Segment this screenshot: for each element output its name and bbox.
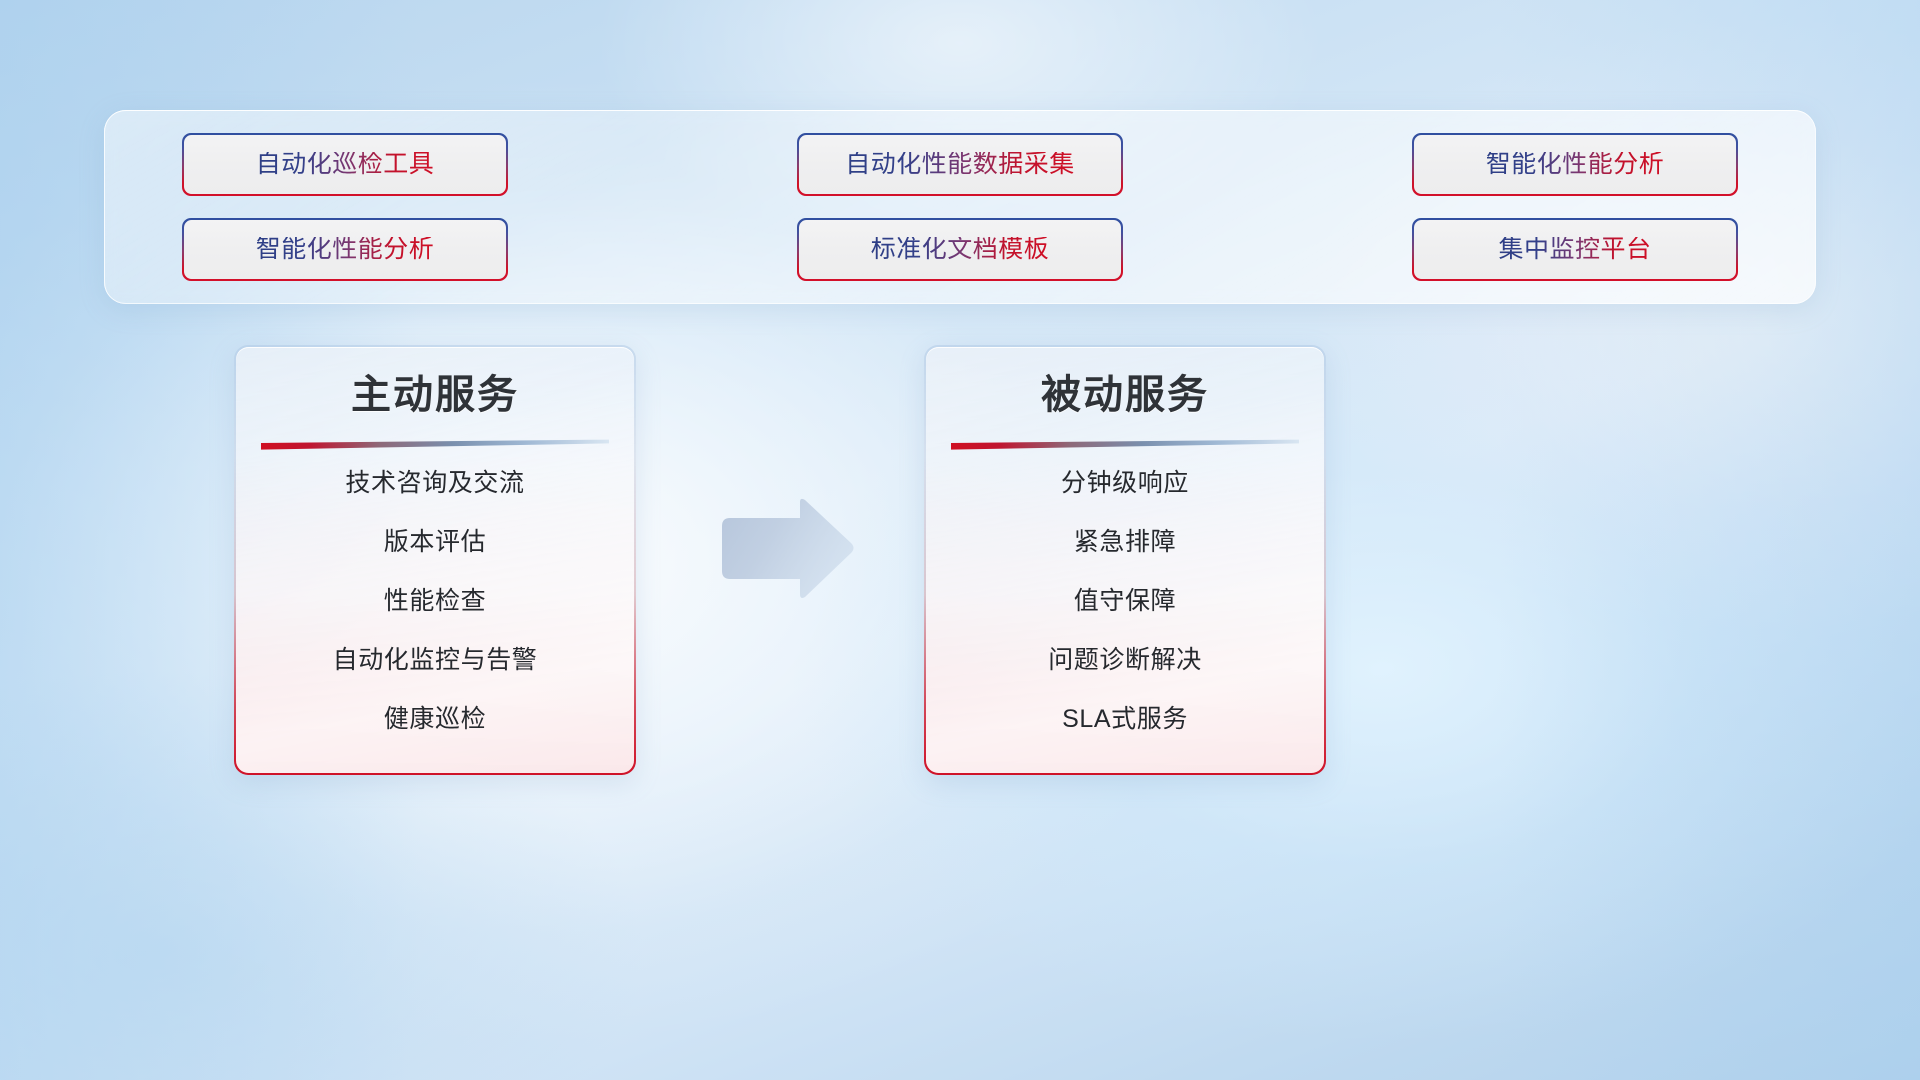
card-title-divider [261,439,609,451]
chip-automation-perf-data-collection[interactable]: 自动化性能数据采集 [797,133,1123,196]
service-item-list: 分钟级响应 紧急排障 值守保障 问题诊断解决 SLA式服务 [926,471,1325,732]
list-item: 自动化监控与告警 [333,648,538,673]
chip-surface: 自动化性能数据采集 [799,135,1121,194]
capability-chip-row-2: 智能化性能分析 标准化文档模板 集中监控平台 [182,218,1738,281]
list-item: SLA式服务 [1062,707,1188,732]
list-item: 版本评估 [384,530,486,555]
service-card-passive: 被动服务 分钟级响应 紧急排障 值守保障 [924,345,1326,775]
capability-chip-row-1: 自动化巡检工具 自动化性能数据采集 智能化性能分析 [182,133,1738,196]
list-item: 分钟级响应 [1061,471,1189,496]
chip-centralized-monitoring-platform[interactable]: 集中监控平台 [1412,218,1738,281]
list-item: 健康巡检 [384,707,486,732]
chip-standard-doc-template[interactable]: 标准化文档模板 [797,218,1123,281]
chip-intelligent-perf-analysis[interactable]: 智能化性能分析 [1412,133,1738,196]
chip-surface: 智能化性能分析 [1414,135,1736,194]
service-card-surface: 被动服务 分钟级响应 紧急排障 值守保障 [926,347,1325,774]
service-item-list: 技术咨询及交流 版本评估 性能检查 自动化监控与告警 健康巡检 [236,471,635,732]
list-item: 性能检查 [384,589,486,614]
chip-label: 自动化巡检工具 [256,152,435,177]
service-card-active: 主动服务 技术咨询及交流 版本评估 性能检查 [234,345,636,775]
slide-canvas: 自动化巡检工具 自动化性能数据采集 智能化性能分析 智能化性能分析 [0,0,1920,1080]
card-title: 主动服务 [351,373,519,417]
chip-surface: 智能化性能分析 [184,220,506,279]
service-card-surface: 主动服务 技术咨询及交流 版本评估 性能检查 [236,347,635,774]
chip-surface: 集中监控平台 [1414,220,1736,279]
chip-label: 集中监控平台 [1498,237,1651,262]
right-arrow-icon [712,498,856,600]
chip-surface: 标准化文档模板 [799,220,1121,279]
chip-intelligent-perf-analysis-2[interactable]: 智能化性能分析 [182,218,508,281]
card-title-divider [951,439,1299,451]
list-item: 紧急排障 [1074,530,1176,555]
chip-automation-inspection-tool[interactable]: 自动化巡检工具 [182,133,508,196]
list-item: 技术咨询及交流 [345,471,524,496]
chip-label: 标准化文档模板 [871,237,1050,262]
list-item: 值守保障 [1074,589,1176,614]
card-title: 被动服务 [1041,373,1209,417]
capability-chip-panel: 自动化巡检工具 自动化性能数据采集 智能化性能分析 智能化性能分析 [104,110,1816,304]
chip-label: 智能化性能分析 [256,237,435,262]
chip-label: 智能化性能分析 [1486,152,1665,177]
chip-label: 自动化性能数据采集 [845,152,1075,177]
list-item: 问题诊断解决 [1048,648,1202,673]
chip-surface: 自动化巡检工具 [184,135,506,194]
